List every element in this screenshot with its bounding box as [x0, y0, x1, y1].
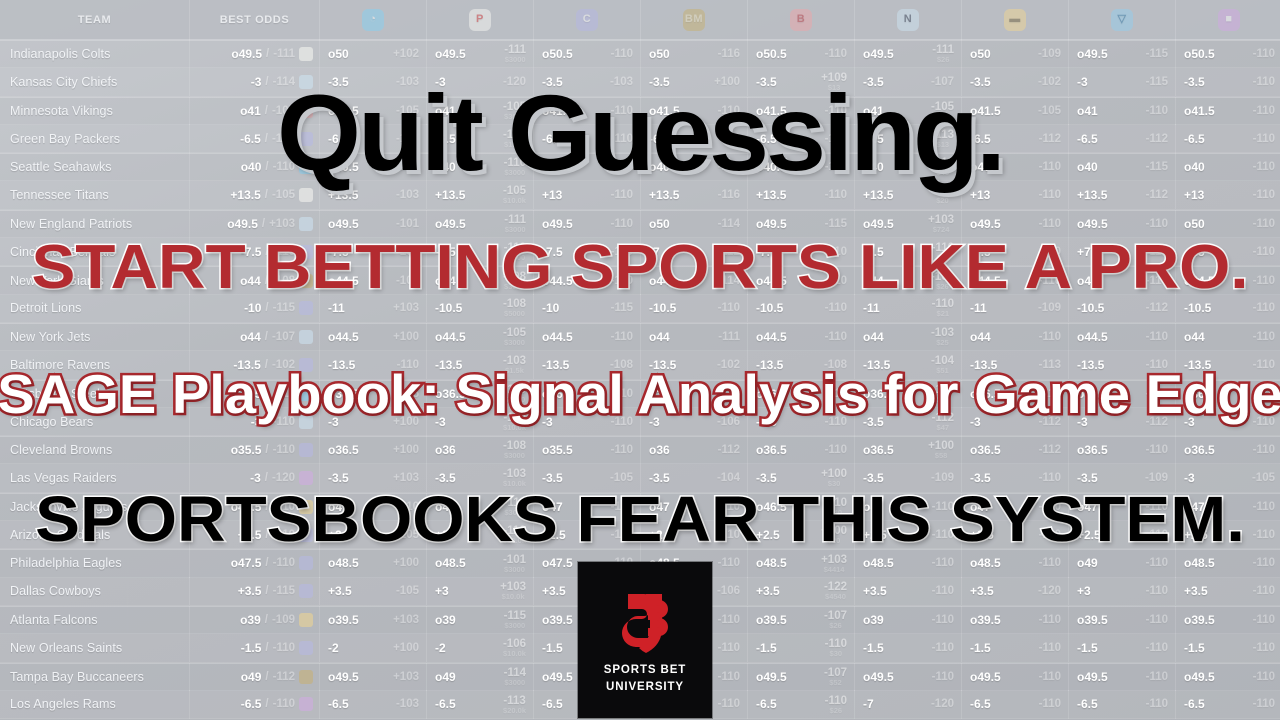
book-odds-limit: $3000: [504, 339, 525, 347]
column-header-best-odds[interactable]: BEST ODDS: [190, 0, 320, 40]
book-odds-line: o39: [863, 613, 884, 627]
wynnbet-icon[interactable]: ▬: [962, 0, 1069, 40]
headline-quit-guessing: Quit Guessing.: [0, 70, 1280, 195]
book-odds-cell[interactable]: o49.5-110: [855, 663, 962, 691]
book-odds-line: o44: [970, 330, 991, 344]
book-odds-cell[interactable]: o50+102: [320, 40, 427, 68]
book-odds-line: o39: [435, 613, 456, 627]
book-odds-juice: -110: [1253, 698, 1275, 710]
book-odds-cell[interactable]: o49.5-110: [1069, 663, 1176, 691]
book-odds-juice: -110: [611, 218, 633, 230]
book-odds-line: o49.5: [542, 217, 573, 231]
book-odds-juice: -110: [1146, 698, 1168, 710]
book-odds-juice: -110: [718, 671, 740, 683]
best-odds-juice: -110: [273, 698, 295, 710]
best-odds-juice: -115: [273, 585, 295, 597]
book-odds-juice: -110: [932, 614, 954, 626]
book-odds-cell[interactable]: o36-108$3000: [427, 436, 534, 464]
book-odds-stack: -106$10.0k: [503, 638, 526, 658]
book-odds-line: o49.5: [863, 47, 894, 61]
betnow-icon: [299, 330, 313, 344]
book-odds-juice: -111: [718, 331, 740, 343]
book-odds-cell[interactable]: o36.5-110: [1069, 436, 1176, 464]
book-odds-line: o44: [863, 330, 884, 344]
best-odds-separator: /: [265, 614, 268, 626]
best-odds-juice: +103: [269, 218, 295, 230]
sports-bet-university-logo: SPORTS BET UNIVERSITY: [578, 562, 712, 718]
book-odds-cell[interactable]: o36.5-110: [748, 436, 855, 464]
book-odds-cell[interactable]: o44-110: [1176, 323, 1280, 351]
draftkings-icon: ▽: [1111, 9, 1133, 31]
betnow-icon: [299, 217, 313, 231]
betmgm-icon[interactable]: BM: [641, 0, 748, 40]
book-odds-juice: -110: [1039, 614, 1061, 626]
book-odds-cell[interactable]: o39-115$3000: [427, 606, 534, 634]
book-odds-cell[interactable]: o36.5-112: [962, 436, 1069, 464]
best-odds-separator: /: [265, 698, 268, 710]
book-odds-line: o50: [649, 47, 670, 61]
book-odds-juice: -114: [718, 218, 740, 230]
book-odds-juice: -110: [932, 642, 954, 654]
book-odds-line: o50: [649, 217, 670, 231]
book-odds-line: o44.5: [756, 330, 787, 344]
book-odds-juice: -110: [718, 698, 740, 710]
book-odds-juice: -110: [825, 302, 847, 314]
book-odds-juice: -110: [825, 695, 847, 707]
book-odds-cell[interactable]: -6.5-103: [320, 690, 427, 718]
book-odds-cell[interactable]: o39.5-110: [1176, 606, 1280, 634]
book-odds-line: -1.5: [863, 641, 884, 655]
book-odds-line: o49: [435, 670, 456, 684]
book-odds-line: o47.5: [542, 556, 573, 570]
wynnbet-icon: [299, 613, 313, 627]
book-odds-juice: -112: [718, 444, 740, 456]
best-odds-line: -1.5: [241, 641, 262, 655]
book-odds-line: -10.5: [1184, 301, 1211, 315]
book-odds-juice: -110: [825, 48, 847, 60]
logo-line-2: UNIVERSITY: [606, 681, 684, 694]
book-odds-line: -11: [863, 301, 880, 315]
betnow-icon[interactable]: N: [855, 0, 962, 40]
book-odds-juice: -110: [825, 331, 847, 343]
book-odds-juice: -110: [1146, 444, 1168, 456]
book-odds-limit: $20.0k: [503, 707, 526, 715]
book-odds-juice: -110: [1039, 331, 1061, 343]
book-odds-limit: $21: [937, 310, 950, 318]
book-odds-line: -10.5: [1077, 301, 1104, 315]
book-odds-line: o44.5: [542, 330, 573, 344]
book-odds-cell[interactable]: o39.5-107$26: [748, 606, 855, 634]
book-odds-line: +3.5: [970, 584, 994, 598]
book-odds-line: o50: [1184, 217, 1205, 231]
book-odds-line: o49: [1077, 556, 1098, 570]
book-odds-cell[interactable]: +3.5-105: [320, 577, 427, 605]
book-odds-stack: -113$20.0k: [503, 695, 526, 715]
book-odds-line: o49.5: [863, 670, 894, 684]
book-odds-juice: -113: [503, 695, 525, 707]
team-name-cell[interactable]: Cleveland Browns: [0, 436, 190, 464]
book-odds-cell[interactable]: o44-103$25: [855, 323, 962, 351]
best-odds-line: -6.5: [241, 697, 262, 711]
best-odds-separator: /: [265, 444, 268, 456]
book-odds-cell[interactable]: o49.5-115: [1069, 40, 1176, 68]
table-row[interactable]: Cleveland Brownso35.5/-110o36.5+100o36-1…: [0, 436, 1280, 464]
book-odds-line: o50.5: [756, 47, 787, 61]
book-odds-juice: -110: [1039, 557, 1061, 569]
book-odds-stack: -111$3000: [504, 44, 526, 64]
book-odds-cell[interactable]: -1.5-110: [1176, 634, 1280, 662]
book-odds-cell[interactable]: o50-116: [641, 40, 748, 68]
book-odds-line: o48.5: [863, 556, 894, 570]
book-odds-limit: $10.0k: [503, 650, 526, 658]
book-odds-line: +3.5: [542, 584, 566, 598]
book-odds-line: o48.5: [1184, 556, 1215, 570]
best-odds-separator: /: [265, 671, 268, 683]
book-odds-stack: -114$3000: [504, 667, 526, 687]
book-odds-limit: $20: [936, 197, 949, 205]
book-odds-cell[interactable]: +3.5-110: [855, 577, 962, 605]
book-odds-juice: -116: [718, 48, 740, 60]
book-odds-juice: +100: [393, 331, 419, 343]
best-odds-separator: /: [265, 331, 268, 343]
book-odds-cell[interactable]: -6.5-110: [1176, 690, 1280, 718]
book-odds-limit: $30: [830, 650, 843, 658]
book-odds-cell[interactable]: o35.5-110: [534, 436, 641, 464]
best-odds-cell[interactable]: o49/-112: [190, 663, 320, 691]
best-odds-cell[interactable]: -1.5/-110: [190, 634, 320, 662]
headline-sage-playbook: SAGE Playbook: Signal Analysis for Game …: [0, 362, 1280, 426]
book-odds-line: -10: [542, 301, 559, 315]
book-odds-cell[interactable]: o36-112: [641, 436, 748, 464]
book-odds-cell[interactable]: o49-114$3000: [427, 663, 534, 691]
pointsbet-icon: P: [469, 9, 491, 31]
book-odds-cell[interactable]: o39.5+103: [320, 606, 427, 634]
best-odds-juice: -107: [272, 331, 295, 343]
book-odds-cell[interactable]: -1.5-110: [855, 634, 962, 662]
book-odds-line: -6.5: [435, 697, 456, 711]
book-odds-line: -11: [328, 301, 345, 315]
book-odds-juice: -110: [1253, 585, 1275, 597]
pointsbet-icon[interactable]: P: [427, 0, 534, 40]
table-row[interactable]: Indianapolis Coltso49.5/-111o50+102o49.5…: [0, 40, 1280, 68]
book-odds-line: -6.5: [328, 697, 349, 711]
book-odds-cell[interactable]: o44-111: [641, 323, 748, 351]
book-odds-juice: -120: [931, 698, 954, 710]
book-odds-cell[interactable]: o44.5+100: [320, 323, 427, 351]
book-odds-line: o50.5: [1184, 47, 1215, 61]
best-odds-line: o39: [240, 613, 261, 627]
book-odds-limit: $10.0k: [502, 593, 525, 601]
book-odds-line: o39.5: [970, 613, 1001, 627]
book-odds-line: o36: [649, 443, 670, 457]
book-odds-line: -1.5: [542, 641, 563, 655]
book-odds-cell[interactable]: o36.5+100$58: [855, 436, 962, 464]
book-odds-juice: -110: [1146, 331, 1168, 343]
book-odds-line: -6.5: [970, 697, 991, 711]
book-odds-stack: -110$30: [825, 638, 847, 658]
book-odds-line: o49.5: [328, 217, 359, 231]
book-odds-cell[interactable]: o50-109: [962, 40, 1069, 68]
book-odds-cell[interactable]: o49.5-107$52: [748, 663, 855, 691]
team-name-cell[interactable]: New York Jets: [0, 323, 190, 351]
book-odds-line: o49.5: [756, 670, 787, 684]
book-odds-line: o49.5: [863, 217, 894, 231]
best-odds-cell[interactable]: o44/-107: [190, 323, 320, 351]
book-odds-stack: -101$3000: [503, 554, 526, 574]
book-odds-line: o49.5: [328, 670, 359, 684]
book-odds-cell[interactable]: o49.5-111$3000: [427, 40, 534, 68]
best-odds-cell[interactable]: o35.5/-110: [190, 436, 320, 464]
book-odds-line: o48.5: [435, 556, 466, 570]
best-odds-cell[interactable]: o49.5/-111: [190, 40, 320, 68]
book-odds-cell[interactable]: o39.5-110: [1069, 606, 1176, 634]
book-odds-cell[interactable]: +3.5-110: [1176, 577, 1280, 605]
book-odds-cell[interactable]: o39-110: [855, 606, 962, 634]
best-odds-juice: -115: [273, 302, 295, 314]
book-odds-juice: -110: [611, 48, 633, 60]
best-odds-juice: -109: [272, 614, 295, 626]
book-odds-cell[interactable]: o50.5-110: [1176, 40, 1280, 68]
team-name-cell[interactable]: Dallas Cowboys: [0, 577, 190, 605]
book-odds-stack: -103$25: [931, 327, 954, 347]
caesars-icon: [299, 556, 313, 570]
book-odds-line: o36.5: [1184, 443, 1215, 457]
book-odds-cell[interactable]: o44.5-105$3000: [427, 323, 534, 351]
book-odds-line: -2: [328, 641, 339, 655]
book-odds-cell[interactable]: o39.5-110: [962, 606, 1069, 634]
team-name-cell[interactable]: Los Angeles Rams: [0, 690, 190, 718]
best-odds-separator: /: [265, 557, 268, 569]
book-odds-cell[interactable]: o36.5+100: [320, 436, 427, 464]
book-odds-line: o49.5: [1077, 47, 1108, 61]
book-odds-juice: -110: [1253, 48, 1275, 60]
book-odds-line: +3.5: [863, 584, 887, 598]
book-odds-line: -1.5: [1077, 641, 1098, 655]
shield-monogram-icon: [608, 586, 682, 660]
book-odds-stack: -111$3000: [504, 214, 526, 234]
book-odds-cell[interactable]: o50.5-110: [534, 40, 641, 68]
book-odds-line: o48.5: [756, 556, 787, 570]
column-header-label: TEAM: [78, 14, 112, 26]
book-odds-juice: -110: [1253, 331, 1275, 343]
book-odds-cell[interactable]: +3.5-120: [962, 577, 1069, 605]
book-odds-juice: -110: [1146, 557, 1168, 569]
book-odds-line: -10.5: [435, 301, 462, 315]
book-odds-line: o44: [649, 330, 670, 344]
book-odds-line: +3.5: [328, 584, 352, 598]
twinspires-icon[interactable]: ■: [1176, 0, 1280, 40]
book-odds-juice: +103: [393, 302, 419, 314]
best-odds-line: o49: [241, 670, 262, 684]
table-row[interactable]: New York Jetso44/-107o44.5+100o44.5-105$…: [0, 323, 1280, 351]
book-odds-juice: -110: [1039, 642, 1061, 654]
betrivers-icon[interactable]: B: [748, 0, 855, 40]
book-odds-juice: -110: [718, 642, 740, 654]
book-odds-cell[interactable]: o44-110: [962, 323, 1069, 351]
book-odds-cell[interactable]: o49.5-110: [1176, 663, 1280, 691]
betnow-icon: N: [897, 9, 919, 31]
book-odds-juice: -110: [932, 671, 954, 683]
book-odds-juice: -106: [717, 585, 740, 597]
best-odds-juice: -110: [273, 557, 295, 569]
caesars-icon[interactable]: C: [534, 0, 641, 40]
book-odds-stack: -110$26: [825, 695, 847, 715]
book-odds-limit: $26: [937, 56, 950, 64]
book-odds-line: o36.5: [328, 443, 359, 457]
draftkings-icon[interactable]: ▽: [1069, 0, 1176, 40]
book-odds-juice: -110: [1146, 614, 1168, 626]
book-odds-line: +3.5: [756, 584, 780, 598]
book-odds-cell[interactable]: -1.5-110: [1069, 634, 1176, 662]
book-odds-cell[interactable]: -1.5-110$30: [748, 634, 855, 662]
book-odds-cell[interactable]: -6.5-110: [1069, 690, 1176, 718]
caesars-icon: [299, 584, 313, 598]
book-odds-juice: -110: [1146, 642, 1168, 654]
best-odds-juice: -110: [273, 642, 295, 654]
book-odds-cell[interactable]: -7-120: [855, 690, 962, 718]
book-odds-cell[interactable]: o44.5-110: [1069, 323, 1176, 351]
book-odds-cell[interactable]: -1.5-110: [962, 634, 1069, 662]
book-odds-cell[interactable]: -6.5-110$26: [748, 690, 855, 718]
book-odds-juice: -112: [1146, 302, 1168, 314]
fanduel-icon: ◔: [362, 9, 384, 31]
best-odds-line: o49.5: [227, 217, 258, 231]
book-odds-line: o49.5: [1077, 670, 1108, 684]
book-odds-line: o50: [970, 47, 991, 61]
best-odds-line: o47.5: [231, 556, 262, 570]
best-odds-juice: -111: [273, 48, 295, 60]
best-odds-separator: /: [265, 585, 268, 597]
book-odds-cell[interactable]: o44.5-110: [748, 323, 855, 351]
book-odds-stack: -115$3000: [504, 610, 526, 630]
book-odds-cell[interactable]: -2+100: [320, 634, 427, 662]
book-odds-limit: $4540: [825, 593, 846, 601]
book-odds-limit: $3000: [504, 566, 525, 574]
caesars-icon: [299, 641, 313, 655]
book-odds-juice: -115: [1146, 48, 1168, 60]
book-odds-limit: $25: [936, 339, 949, 347]
book-odds-juice: -107: [824, 667, 847, 679]
book-odds-line: o39.5: [756, 613, 787, 627]
book-odds-juice: +103: [393, 614, 419, 626]
book-odds-line: -2: [435, 641, 446, 655]
book-odds-juice: -115: [611, 302, 633, 314]
book-odds-cell[interactable]: o49.5-110: [962, 663, 1069, 691]
book-odds-juice: -110: [825, 444, 847, 456]
book-odds-cell[interactable]: o50.5-110: [748, 40, 855, 68]
book-odds-juice: -103: [396, 698, 419, 710]
book-odds-line: o35.5: [542, 443, 573, 457]
book-odds-cell[interactable]: o44.5-110: [534, 323, 641, 351]
book-odds-cell[interactable]: +3.5-122$4540: [748, 577, 855, 605]
book-odds-limit: $3000: [504, 679, 525, 687]
book-odds-stack: +100$58: [928, 440, 954, 460]
team-name-cell[interactable]: Tampa Bay Buccaneers: [0, 663, 190, 691]
book-odds-line: -11: [970, 301, 987, 315]
book-odds-cell[interactable]: -2-106$10.0k: [427, 634, 534, 662]
book-odds-limit: $52: [829, 679, 842, 687]
best-odds-line: -10: [244, 301, 261, 315]
book-odds-line: -6.5: [1077, 697, 1098, 711]
twinspires-icon: [299, 697, 313, 711]
book-odds-stack: +103$724: [928, 214, 954, 234]
book-odds-line: o50: [328, 47, 349, 61]
fanduel-icon[interactable]: ◔: [320, 0, 427, 40]
book-odds-cell[interactable]: o49.5-111$26: [855, 40, 962, 68]
book-odds-cell[interactable]: +3-110: [1069, 577, 1176, 605]
book-odds-juice: +100: [393, 444, 419, 456]
book-odds-juice: -120: [1038, 585, 1061, 597]
book-odds-cell[interactable]: +3+103$10.0k: [427, 577, 534, 605]
pointsbet-icon: [299, 47, 313, 61]
book-odds-line: o36: [435, 443, 456, 457]
best-odds-cell[interactable]: o39/-109: [190, 606, 320, 634]
best-odds-cell[interactable]: -6.5/-110: [190, 690, 320, 718]
best-odds-cell[interactable]: +3.5/-115: [190, 577, 320, 605]
book-odds-limit: $26: [829, 622, 842, 630]
book-odds-line: -6.5: [1184, 697, 1205, 711]
best-odds-separator: /: [265, 302, 268, 314]
caesars-icon: [299, 301, 313, 315]
book-odds-line: -6.5: [542, 697, 563, 711]
team-name-cell[interactable]: New Orleans Saints: [0, 634, 190, 662]
book-odds-line: o49.5: [970, 670, 1001, 684]
book-odds-line: o49.5: [435, 47, 466, 61]
team-name-cell[interactable]: Indianapolis Colts: [0, 40, 190, 68]
book-odds-juice: -112: [1039, 444, 1061, 456]
book-odds-cell[interactable]: -6.5-110: [962, 690, 1069, 718]
book-odds-juice: -110: [1039, 218, 1061, 230]
book-odds-line: o49.5: [435, 217, 466, 231]
book-odds-line: +3: [435, 584, 449, 598]
book-odds-line: o49.5: [970, 217, 1001, 231]
best-odds-juice: -112: [273, 671, 295, 683]
book-odds-juice: +100: [393, 642, 419, 654]
twinspires-icon: ■: [1218, 9, 1240, 31]
book-odds-stack: +103$10.0k: [500, 581, 526, 601]
book-odds-stack: -111$26: [932, 44, 954, 64]
best-odds-separator: /: [265, 642, 268, 654]
book-odds-juice: -110: [1253, 444, 1275, 456]
team-name-cell[interactable]: Atlanta Falcons: [0, 606, 190, 634]
book-odds-line: o44: [1184, 330, 1205, 344]
book-odds-line: +3.5: [1184, 584, 1208, 598]
book-odds-juice: -110: [718, 302, 740, 314]
caesars-icon: [299, 443, 313, 457]
book-odds-line: o39.5: [1184, 613, 1215, 627]
betmgm-icon: BM: [683, 9, 705, 31]
book-odds-juice: -110: [611, 444, 633, 456]
book-odds-line: o48.5: [328, 556, 359, 570]
book-odds-line: o49.5: [542, 670, 573, 684]
book-odds-limit: $3000: [504, 622, 525, 630]
book-odds-line: o50.5: [542, 47, 573, 61]
best-odds-line: o49.5: [231, 47, 262, 61]
book-odds-juice: -110: [1253, 614, 1275, 626]
book-odds-line: o36.5: [970, 443, 1001, 457]
book-odds-cell[interactable]: o49.5+103: [320, 663, 427, 691]
book-odds-limit: $58: [935, 452, 948, 460]
book-odds-cell[interactable]: o36.5-110: [1176, 436, 1280, 464]
book-odds-line: o39.5: [328, 613, 359, 627]
book-odds-juice: +102: [393, 48, 419, 60]
book-odds-cell[interactable]: -6.5-113$20.0k: [427, 690, 534, 718]
best-odds-line: +3.5: [238, 584, 262, 598]
book-odds-line: -7: [863, 697, 874, 711]
book-odds-line: o44.5: [1077, 330, 1108, 344]
column-header-team[interactable]: TEAM: [0, 0, 190, 40]
book-odds-juice: +100: [393, 557, 419, 569]
